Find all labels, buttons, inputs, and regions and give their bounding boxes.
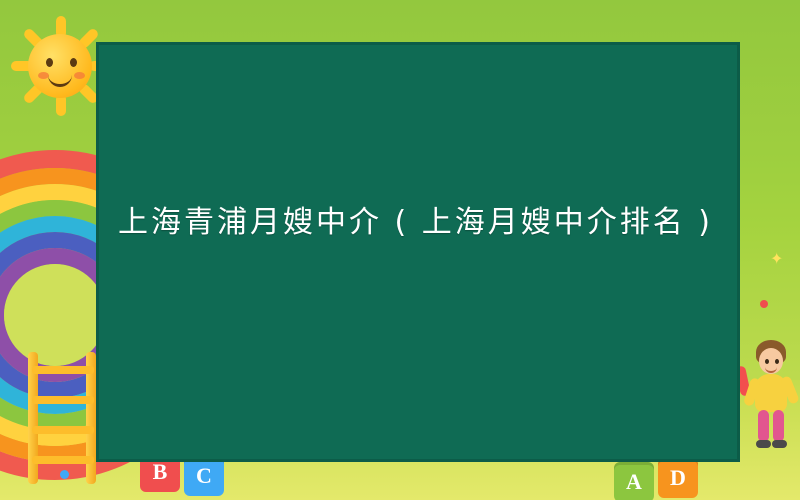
banner-image: B C A D ✦ ✦ 上海青浦月嫂中介 ( 上海月	[0, 0, 800, 500]
letter-block: D	[658, 458, 698, 498]
decorative-dot	[760, 300, 768, 308]
chalkboard: 上海青浦月嫂中介 ( 上海月嫂中介排名 )	[96, 42, 740, 462]
ladder-icon	[28, 352, 102, 484]
star-icon: ✦	[770, 252, 783, 268]
child-right-figure	[748, 340, 794, 464]
letter-block: A	[614, 462, 654, 500]
decorative-dot	[60, 470, 69, 479]
chalkboard-text: 上海青浦月嫂中介 ( 上海月嫂中介排名 )	[118, 194, 718, 252]
letter-block: C	[184, 456, 224, 496]
